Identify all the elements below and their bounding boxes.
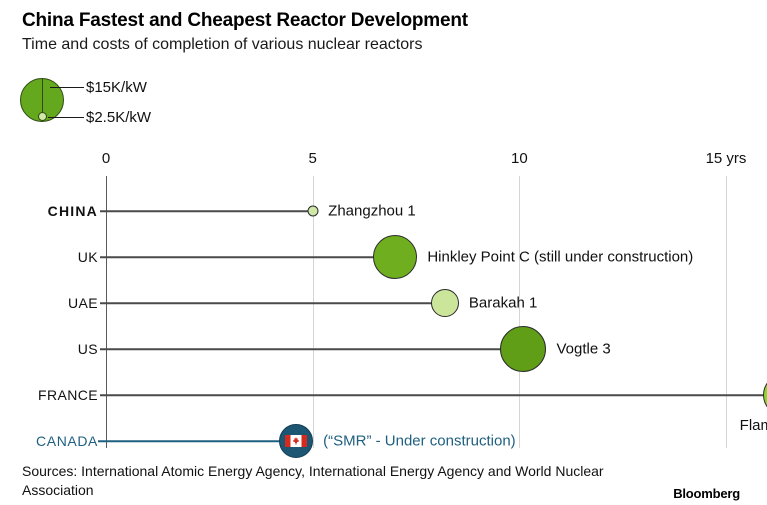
row-connector-line [100, 302, 445, 304]
category-label-uk: UK [78, 249, 98, 265]
row-connector-line [100, 256, 395, 258]
bubble-size-legend: $15K/kW $2.5K/kW [20, 76, 240, 142]
category-label-us: US [78, 341, 98, 357]
x-tick-label: 0 [102, 150, 110, 167]
canada-flag-icon[interactable] [279, 424, 313, 458]
chart-row-china[interactable]: CHINAZhangzhou 1 [0, 188, 767, 234]
x-tick-label: 15 yrs [706, 150, 747, 167]
footer: Sources: International Atomic Energy Age… [22, 462, 752, 500]
bloomberg-logo: Bloomberg [673, 486, 740, 501]
category-label-uae: UAE [68, 295, 98, 311]
point-label: (“SMR” - Under construction) [323, 433, 516, 450]
page-title: China Fastest and Cheapest Reactor Devel… [22, 10, 468, 32]
x-tick-label: 10 [511, 150, 528, 167]
data-bubble[interactable] [500, 326, 546, 372]
data-bubble[interactable] [763, 374, 767, 416]
point-label: Hinkley Point C (still under constructio… [427, 249, 693, 266]
legend-leader-line-max [50, 87, 84, 88]
row-connector-line [100, 394, 767, 396]
legend-label-min: $2.5K/kW [86, 109, 151, 126]
point-label: Barakah 1 [469, 295, 537, 312]
chart-row-canada[interactable]: CANADA (“SMR” - Under construction) [0, 418, 767, 464]
chart-subtitle: Time and costs of completion of various … [22, 36, 422, 54]
data-bubble[interactable] [307, 206, 318, 217]
sources-note: Sources: International Atomic Energy Age… [22, 462, 622, 500]
chart-row-france[interactable]: FRANCEFlamanville 3 [0, 372, 767, 418]
chart-row-uae[interactable]: UAEBarakah 1 [0, 280, 767, 326]
category-label-canada: CANADA [36, 433, 98, 449]
row-connector-line [98, 440, 296, 442]
point-label: Zhangzhou 1 [328, 203, 416, 220]
chart-row-uk[interactable]: UKHinkley Point C (still under construct… [0, 234, 767, 280]
legend-min-bubble [38, 112, 47, 121]
chart-row-us[interactable]: USVogtle 3 [0, 326, 767, 372]
legend-label-max: $15K/kW [86, 79, 147, 96]
category-label-china: CHINA [48, 203, 98, 219]
data-bubble[interactable] [431, 289, 459, 317]
category-label-france: FRANCE [38, 387, 98, 403]
chart-plot-area: 051015 yrs CHINAZhangzhou 1UKHinkley Poi… [0, 150, 767, 450]
data-bubble[interactable] [373, 235, 417, 279]
point-label: Vogtle 3 [556, 341, 610, 358]
row-connector-line [100, 348, 523, 350]
row-connector-line [100, 210, 313, 212]
legend-leader-line-min [48, 117, 84, 118]
x-tick-label: 5 [308, 150, 316, 167]
